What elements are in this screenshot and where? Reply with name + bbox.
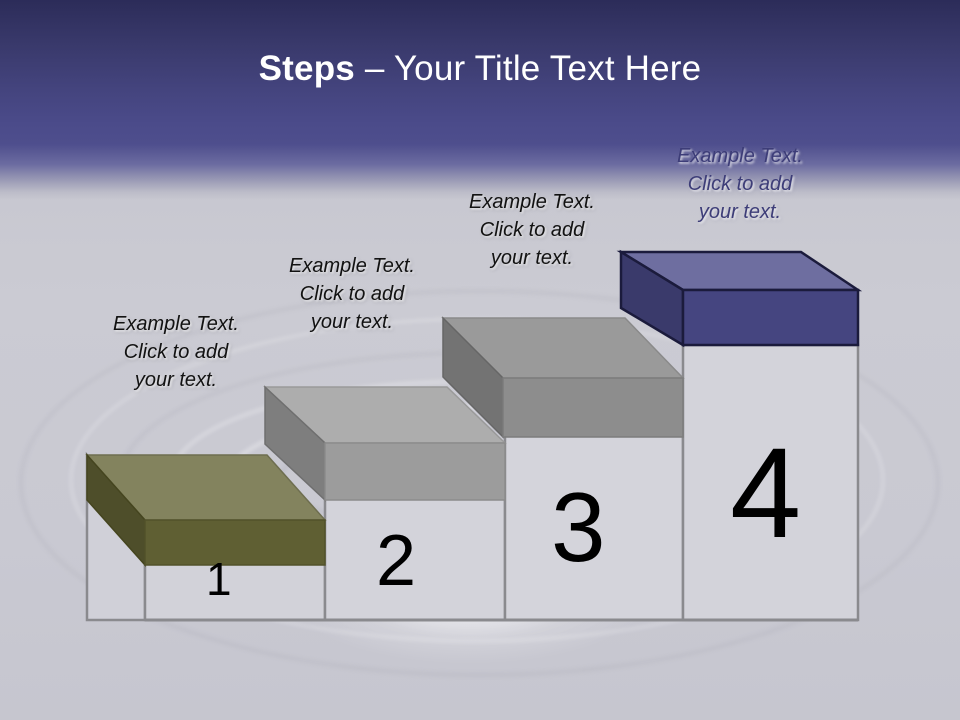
step-3-caption: Example Text. Click to add your text. [448, 188, 616, 272]
slab-2-front[interactable] [325, 443, 505, 500]
step-3-number: 3 [551, 478, 606, 576]
step-1-caption: Example Text. Click to add your text. [92, 310, 260, 394]
slab-1-front[interactable] [145, 520, 325, 565]
slab-3-front[interactable] [503, 378, 683, 437]
step-4-caption: Example Text. Click to add your text. [650, 142, 830, 226]
slab-4-front[interactable] [683, 290, 858, 345]
step-1-number: 1 [206, 556, 232, 602]
slide: Steps – Your Title Text Here [0, 0, 960, 720]
step-4-number: 4 [730, 430, 801, 558]
step-2-number: 2 [376, 525, 416, 597]
step-2-caption: Example Text. Click to add your text. [268, 252, 436, 336]
